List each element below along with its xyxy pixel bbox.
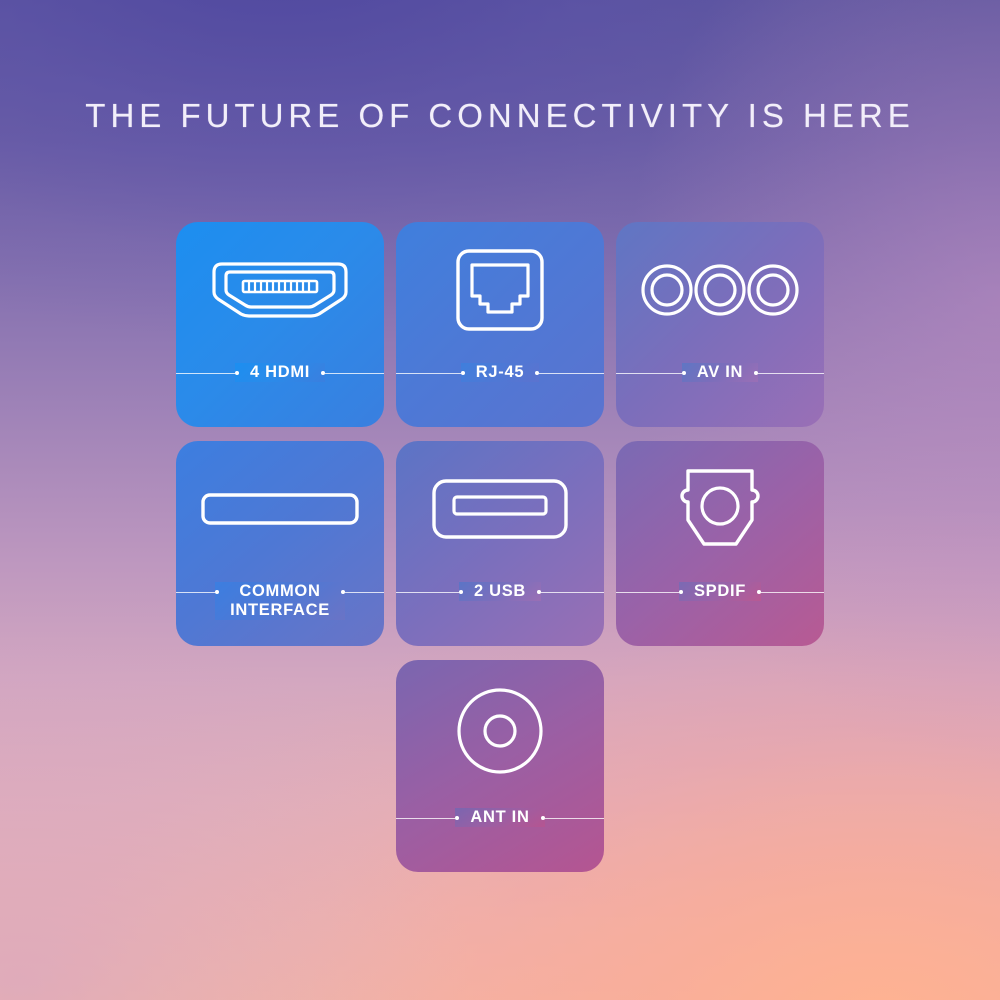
card-label-strip: 4 HDMI <box>176 363 384 427</box>
common-interface-slot-icon <box>176 441 384 582</box>
card-hdmi[interactable]: 4 HDMI <box>176 222 384 427</box>
label-wrap: AV IN <box>682 363 758 382</box>
label-wrap: ANT IN <box>455 808 544 827</box>
card-common-interface[interactable]: COMMON INTERFACE <box>176 441 384 646</box>
page-title: THE FUTURE OF CONNECTIVITY IS HERE <box>0 96 1000 136</box>
label-dot-left <box>215 590 219 594</box>
label-dot-left <box>461 371 465 375</box>
label-dot-right <box>537 590 541 594</box>
label-dot-right <box>757 590 761 594</box>
card-label: ANT IN <box>468 808 531 827</box>
card-ant-in[interactable]: ANT IN <box>396 660 604 872</box>
infographic-page: THE FUTURE OF CONNECTIVITY IS HERE <box>0 0 1000 1000</box>
card-rj45[interactable]: RJ-45 <box>396 222 604 427</box>
card-avin[interactable]: AV IN <box>616 222 824 427</box>
card-row-1: 4 HDMI <box>176 222 824 427</box>
card-label: AV IN <box>695 363 745 382</box>
card-label: COMMON INTERFACE <box>228 582 332 620</box>
hdmi-port-icon <box>176 222 384 363</box>
label-wrap: SPDIF <box>679 582 761 601</box>
label-dot-right <box>321 371 325 375</box>
card-label: 2 USB <box>472 582 528 601</box>
card-spdif[interactable]: SPDIF <box>616 441 824 646</box>
card-label-strip: AV IN <box>616 363 824 427</box>
label-dot-left <box>455 816 459 820</box>
label-dot-right <box>754 371 758 375</box>
card-row-2: COMMON INTERFACE <box>176 441 824 646</box>
spdif-optical-port-icon <box>616 441 824 582</box>
card-label: 4 HDMI <box>248 363 312 382</box>
label-dot-left <box>459 590 463 594</box>
card-label-strip: ANT IN <box>396 808 604 872</box>
coaxial-antenna-jack-icon <box>396 660 604 808</box>
card-label-strip: COMMON INTERFACE <box>176 582 384 646</box>
label-wrap: 2 USB <box>459 582 541 601</box>
label-dot-right <box>341 590 345 594</box>
label-wrap: 4 HDMI <box>235 363 325 382</box>
card-usb[interactable]: 2 USB <box>396 441 604 646</box>
card-label: SPDIF <box>692 582 748 601</box>
card-label-strip: RJ-45 <box>396 363 604 427</box>
label-wrap: COMMON INTERFACE <box>215 582 345 620</box>
label-dot-right <box>535 371 539 375</box>
usb-port-icon <box>396 441 604 582</box>
rj45-jack-icon <box>396 222 604 363</box>
label-dot-right <box>541 816 545 820</box>
port-card-grid: 4 HDMI <box>176 222 824 872</box>
label-wrap: RJ-45 <box>461 363 539 382</box>
card-label-strip: SPDIF <box>616 582 824 646</box>
label-dot-left <box>679 590 683 594</box>
rca-triple-jack-icon <box>616 222 824 363</box>
card-row-3: ANT IN <box>176 660 824 872</box>
label-dot-left <box>682 371 686 375</box>
card-label: RJ-45 <box>474 363 526 382</box>
card-label-strip: 2 USB <box>396 582 604 646</box>
label-dot-left <box>235 371 239 375</box>
